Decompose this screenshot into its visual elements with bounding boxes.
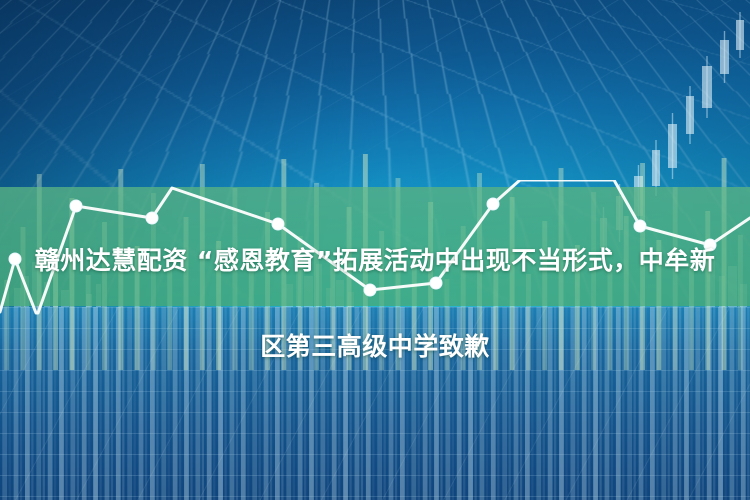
candle-body (702, 66, 712, 108)
promotional-banner: 赣州达慧配资 “感恩教育”拓展活动中出现不当形式，中牟新 区第三高级中学致歉 (0, 0, 750, 500)
candle-body (736, 20, 744, 50)
headline-line-1: 赣州达慧配资 “感恩教育”拓展活动中出现不当形式，中牟新 (0, 239, 750, 282)
candle-body (720, 40, 729, 74)
headline-line-2: 区第三高级中学致歉 (0, 325, 750, 368)
page-title: 赣州达慧配资 “感恩教育”拓展活动中出现不当形式，中牟新 区第三高级中学致歉 (0, 196, 750, 411)
candle-body (686, 96, 694, 134)
